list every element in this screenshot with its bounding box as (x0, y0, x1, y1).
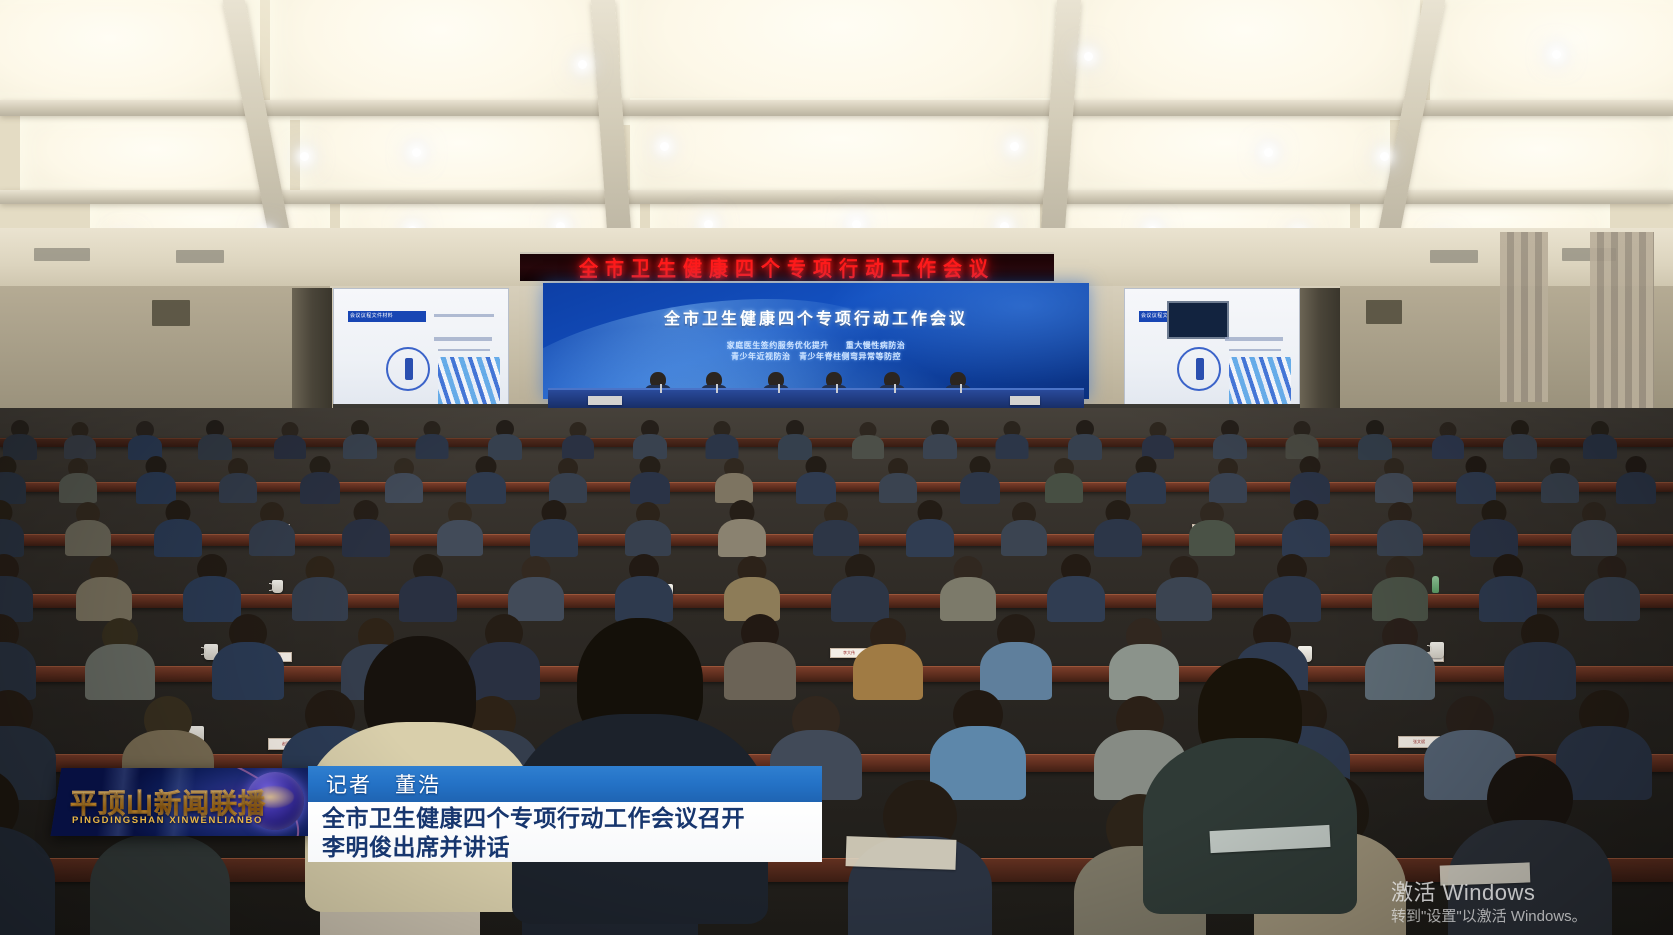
curtain-right-2 (1500, 232, 1548, 402)
audience-area: 张文斌 刘建国 (0, 408, 1673, 935)
projection-screen: 全市卫生健康四个专项行动工作会议 家庭医生签约服务优化提升 重大慢性病防治 青少… (543, 283, 1089, 399)
projection-screen-title: 全市卫生健康四个专项行动工作会议 (543, 305, 1089, 329)
headline-panel: 全市卫生健康四个专项行动工作会议召开 李明俊出席并讲话 (308, 802, 822, 862)
presidium-person (706, 372, 722, 388)
channel-logo-pinyin: PINGDINGSHAN XINWENLIANBO (72, 815, 304, 826)
presidium-person (826, 372, 842, 388)
presidium-person (768, 372, 784, 388)
side-screen-right: 会议议程文件材料 (1124, 288, 1300, 406)
projection-screen-subtitle-2: 青少年近视防治 青少年脊柱侧弯异常等防控 (543, 351, 1089, 362)
projection-screen-subtitle-1: 家庭医生签约服务优化提升 重大慢性病防治 (543, 340, 1089, 351)
led-banner-text: 全市卫生健康四个专项行动工作会议 (579, 252, 995, 281)
channel-logo: 平顶山新闻联播 PINGDINGSHAN XINWENLIANBO (51, 768, 320, 836)
presidium-person (884, 372, 900, 388)
reporter-byline-text: 记者 董浩 (326, 769, 441, 799)
led-banner: 全市卫生健康四个专项行动工作会议 (520, 252, 1054, 281)
reporter-byline-bar: 记者 董浩 (308, 766, 822, 802)
headline-line-1: 全市卫生健康四个专项行动工作会议召开 (322, 804, 822, 833)
presidium-person (650, 372, 666, 388)
side-screen-left: 会议议程文件材料 (333, 288, 509, 406)
video-frame: 全市卫生健康四个专项行动工作会议 全市卫生健康四个专项行动工作会议 家庭医生签约… (0, 0, 1673, 935)
headline-line-2: 李明俊出席并讲话 (322, 833, 822, 862)
presidium-person (950, 372, 966, 388)
ceiling (0, 0, 1673, 288)
side-screen-left-label: 会议议程文件材料 (350, 312, 424, 321)
